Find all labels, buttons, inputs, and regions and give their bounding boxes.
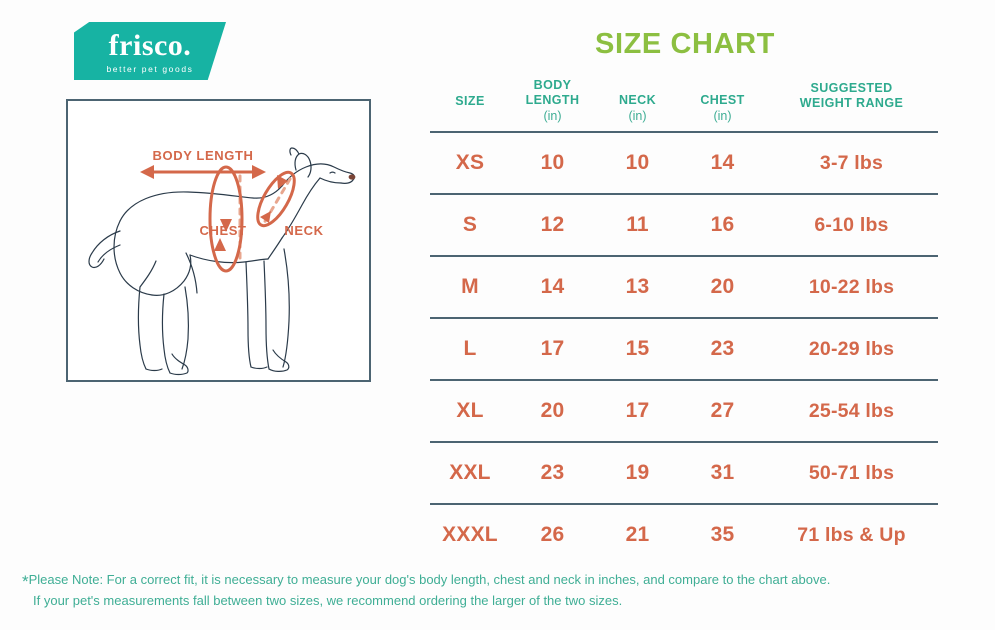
table-row: M 14 13 20 10-22 lbs [430,256,938,318]
size-chart-page: frisco. better pet goods [0,0,995,630]
table-row: XL 20 17 27 25-54 lbs [430,380,938,442]
footnote-line-2: If your pet's measurements fall between … [22,590,972,611]
cell-weight-range: 50-71 lbs [765,442,938,504]
cell-body-length: 12 [510,194,595,256]
table-row: L 17 15 23 20-29 lbs [430,318,938,380]
column-header-size: SIZE [430,78,510,132]
cell-weight-range: 25-54 lbs [765,380,938,442]
cell-weight-range: 20-29 lbs [765,318,938,380]
table-row: XS 10 10 14 3-7 lbs [430,132,938,194]
neck-girth-ellipse [251,167,302,231]
column-header-body-length-line1: BODY [534,78,572,92]
column-header-size-label: SIZE [455,94,484,108]
cell-chest: 14 [680,132,765,194]
cell-size: S [430,194,510,256]
cell-neck: 17 [595,380,680,442]
column-header-neck-label: NECK [619,93,656,107]
measurement-annotations: BODY LENGTH CHEST NECK [140,148,324,271]
cell-weight-range: 3-7 lbs [765,132,938,194]
cell-body-length: 14 [510,256,595,318]
cell-neck: 13 [595,256,680,318]
column-header-chest-unit: (in) [680,109,765,124]
cell-neck: 10 [595,132,680,194]
size-table-head: SIZE BODY LENGTH (in) NECK (in) CHEST (i… [430,78,938,132]
table-row: S 12 11 16 6-10 lbs [430,194,938,256]
cell-body-length: 10 [510,132,595,194]
cell-chest: 20 [680,256,765,318]
cell-body-length: 20 [510,380,595,442]
column-header-body-length-line2: LENGTH [526,93,580,107]
cell-weight-range: 10-22 lbs [765,256,938,318]
cell-chest: 27 [680,380,765,442]
cell-size: M [430,256,510,318]
body-length-label: BODY LENGTH [153,148,254,163]
chest-label: CHEST [199,223,246,238]
cell-size: L [430,318,510,380]
cell-weight-range: 6-10 lbs [765,194,938,256]
column-header-weight-range: SUGGESTED WEIGHT RANGE [765,78,938,132]
footnote: *Please Note: For a correct fit, it is n… [22,569,972,611]
dog-diagram-svg: BODY LENGTH CHEST NECK [68,101,369,380]
cell-size: XXL [430,442,510,504]
column-header-weight-range-line1: SUGGESTED [810,81,892,95]
column-header-body-length: BODY LENGTH (in) [510,78,595,132]
size-table-body: XS 10 10 14 3-7 lbs S 12 11 16 6-10 lbs … [430,132,938,565]
column-header-neck: NECK (in) [595,78,680,132]
size-table: SIZE BODY LENGTH (in) NECK (in) CHEST (i… [430,78,938,565]
column-header-body-length-unit: (in) [510,109,595,124]
size-table-wrapper: SIZE BODY LENGTH (in) NECK (in) CHEST (i… [430,78,938,565]
cell-size: XS [430,132,510,194]
column-header-chest-label: CHEST [700,93,744,107]
cell-neck: 19 [595,442,680,504]
cell-size: XL [430,380,510,442]
dog-outline [89,148,355,375]
table-row: XXL 23 19 31 50-71 lbs [430,442,938,504]
cell-body-length: 17 [510,318,595,380]
cell-neck: 21 [595,504,680,565]
column-header-neck-unit: (in) [595,109,680,124]
column-header-chest: CHEST (in) [680,78,765,132]
neck-label: NECK [284,223,323,238]
brand-tagline: better pet goods [106,65,193,74]
cell-weight-range: 71 lbs & Up [765,504,938,565]
cell-chest: 23 [680,318,765,380]
cell-chest: 35 [680,504,765,565]
brand-name: frisco. [109,31,192,61]
cell-body-length: 26 [510,504,595,565]
cell-chest: 31 [680,442,765,504]
cell-body-length: 23 [510,442,595,504]
page-title: SIZE CHART [430,28,940,61]
dog-measurement-diagram: BODY LENGTH CHEST NECK [66,99,371,382]
column-header-weight-range-line2: WEIGHT RANGE [800,96,903,110]
table-row: XXXL 26 21 35 71 lbs & Up [430,504,938,565]
footnote-line-1: Please Note: For a correct fit, it is ne… [29,572,831,587]
cell-size: XXXL [430,504,510,565]
body-length-arrow [140,165,266,179]
cell-neck: 11 [595,194,680,256]
frisco-logo-banner: frisco. better pet goods [74,22,226,80]
cell-neck: 15 [595,318,680,380]
header-row: SIZE BODY LENGTH (in) NECK (in) CHEST (i… [430,78,938,132]
cell-chest: 16 [680,194,765,256]
footnote-asterisk: * [22,572,29,591]
